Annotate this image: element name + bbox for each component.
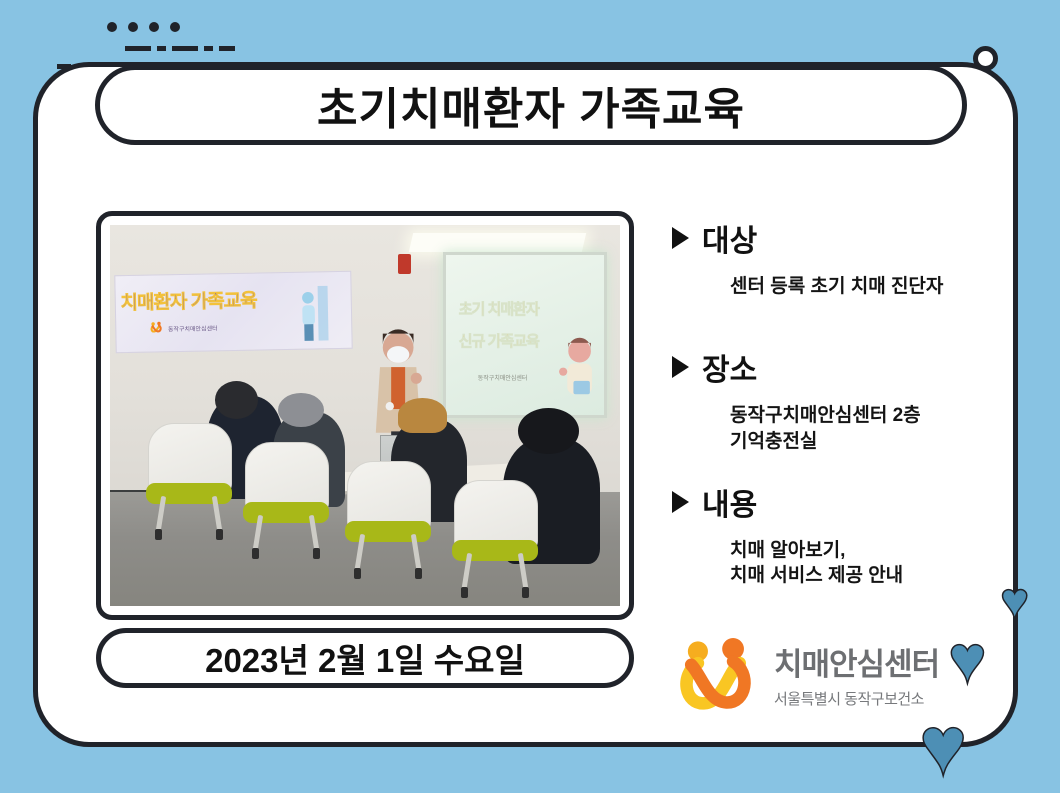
photo-attendee-cap	[398, 398, 446, 432]
decorative-dot	[149, 22, 159, 32]
title-banner: 초기치매환자 가족교육	[95, 65, 967, 145]
event-details: 대상 센터 등록 초기 치매 진단자 장소 동작구치매안심센터 2층 기억충전실…	[672, 216, 992, 610]
photo-chair	[447, 480, 544, 594]
photo-chair	[141, 423, 238, 537]
detail-body-target: 센터 등록 초기 치매 진단자	[730, 274, 992, 299]
page-title: 초기치매환자 가족교육	[317, 73, 745, 137]
photo-banner-subtitle: 동작구치매안심센터	[168, 323, 218, 333]
decorative-dot	[107, 22, 117, 32]
event-photo-frame: 치매환자 가족교육 동작구치매안심센터 초기 치매환자 신규 가족교육	[96, 211, 634, 620]
detail-block-location: 장소 동작구치매안심센터 2층 기억충전실	[672, 345, 992, 454]
triangle-marker-icon	[672, 227, 689, 249]
detail-heading-target: 대상	[672, 216, 992, 260]
detail-block-content: 내용 치매 알아보기, 치매 서비스 제공 안내	[672, 480, 992, 589]
event-date-banner: 2023년 2월 1일 수요일	[96, 628, 634, 688]
poster-canvas: 초기치매환자 가족교육 치매환자 가족교육 동작구치매안심센터	[0, 0, 1060, 793]
photo-chair	[238, 442, 335, 556]
decorative-dash-line-upper	[125, 46, 235, 51]
event-photo: 치매환자 가족교육 동작구치매안심센터 초기 치매환자 신규 가족교육	[110, 225, 620, 606]
photo-chair	[340, 461, 437, 575]
photo-wall-banner: 치매환자 가족교육 동작구치매안심센터	[114, 270, 352, 353]
photo-screen-figure-icon	[557, 327, 598, 410]
detail-heading-label: 내용	[702, 480, 757, 524]
detail-body-content: 치매 알아보기, 치매 서비스 제공 안내	[730, 538, 992, 589]
photo-exit-sign	[398, 254, 411, 274]
detail-heading-location: 장소	[672, 345, 992, 389]
detail-body-location: 동작구치매안심센터 2층 기억충전실	[730, 403, 992, 454]
photo-screen-subtitle: 동작구치매안심센터	[478, 373, 528, 382]
photo-banner-figure-icon	[292, 284, 335, 343]
detail-heading-label: 대상	[702, 216, 757, 260]
photo-projection-screen: 초기 치매환자 신규 가족교육 동작구치매안심센터	[443, 252, 607, 418]
decorative-dots	[107, 22, 180, 32]
event-date: 2023년 2월 1일 수요일	[205, 634, 525, 682]
photo-screen-line-2: 신규 가족교육	[459, 330, 539, 351]
triangle-marker-icon	[672, 356, 689, 378]
photo-attendee-head	[518, 408, 579, 454]
logo-subtitle: 서울특별시 동작구보건소	[774, 688, 939, 709]
logo-name: 치매안심센터	[774, 639, 939, 684]
heart-icon: ♥	[1001, 577, 1028, 623]
heart-icon: ♥	[920, 706, 966, 784]
photo-banner-title: 치매환자 가족교육	[120, 285, 257, 315]
organization-logo: 치매안심센터 서울특별시 동작구보건소	[676, 638, 939, 710]
photo-ceiling-light	[409, 233, 587, 252]
decorative-dot	[128, 22, 138, 32]
photo-screen-line-1: 초기 치매환자	[459, 298, 539, 319]
heart-icon: ♥	[949, 629, 986, 691]
photo-attendee-hat	[278, 393, 324, 427]
photo-banner-logo-icon	[149, 321, 163, 332]
decorative-dot	[170, 22, 180, 32]
photo-attendee-head	[215, 381, 258, 419]
detail-block-target: 대상 센터 등록 초기 치매 진단자	[672, 216, 992, 299]
triangle-marker-icon	[672, 491, 689, 513]
logo-text-group: 치매안심센터 서울특별시 동작구보건소	[774, 639, 939, 709]
detail-heading-label: 장소	[702, 345, 757, 389]
detail-heading-content: 내용	[672, 480, 992, 524]
dementia-center-logo-icon	[676, 638, 760, 710]
